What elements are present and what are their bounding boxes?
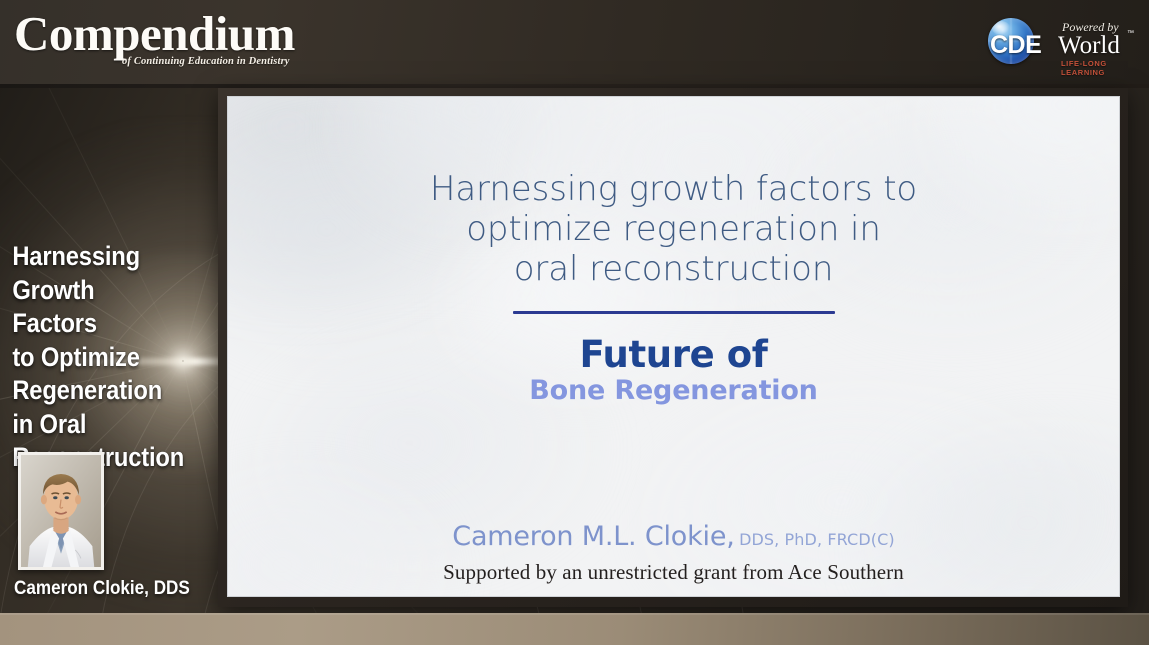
- trademark-symbol: ™: [1127, 30, 1134, 37]
- speaker-portrait-icon: [21, 455, 101, 567]
- grant-statement: Supported by an unrestricted grant from …: [228, 560, 1119, 585]
- compendium-wordmark: Compendium: [14, 8, 314, 60]
- compendium-tagline: of Continuing Education in Dentistry: [122, 56, 314, 67]
- slide-divider: [513, 311, 835, 314]
- footer-bar: [0, 613, 1149, 645]
- course-title: Harnessing Growth Factors to Optimize Re…: [0, 240, 185, 475]
- speaker-name: Cameron Clokie, DDS: [14, 578, 190, 600]
- cde-wordmark: CDE: [990, 33, 1062, 58]
- cde-tagline: LIFE-LONG LEARNING: [1061, 59, 1138, 77]
- presentation-viewer: Compendium of Continuing Education in De…: [0, 0, 1149, 645]
- slide-subtitle-primary: Future of: [580, 334, 768, 376]
- slide-frame: Harnessing growth factors to optimize re…: [218, 88, 1128, 607]
- compendium-logo[interactable]: Compendium of Continuing Education in De…: [14, 8, 314, 70]
- presenter-degrees: DDS, PhD, FRCD(C): [739, 530, 895, 549]
- course-sidebar: Harnessing Growth Factors to Optimize Re…: [0, 240, 210, 475]
- slide-title: Harnessing growth factors to optimize re…: [344, 169, 1004, 289]
- cde-world-logo[interactable]: CDE Powered by World ™ LIFE-LONG LEARNIN…: [988, 12, 1138, 68]
- slide-canvas[interactable]: Harnessing growth factors to optimize re…: [227, 96, 1120, 597]
- presenter-name: Cameron M.L. Clokie,: [452, 521, 734, 552]
- slide-subtitle-secondary: Bone Regeneration: [529, 375, 817, 407]
- avatar: [18, 452, 104, 570]
- cde-world-wordmark: World: [1058, 33, 1120, 58]
- presenter-credit: Cameron M.L. Clokie, DDS, PhD, FRCD(C): [228, 521, 1119, 552]
